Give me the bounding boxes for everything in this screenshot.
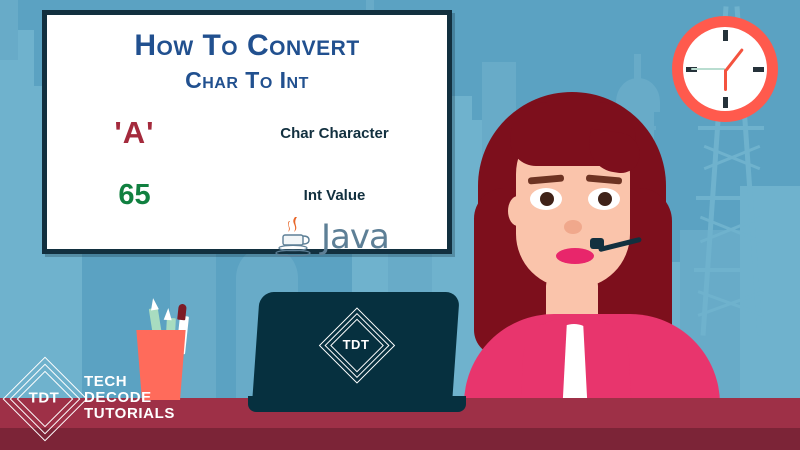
pupil-left <box>540 192 554 206</box>
pencil-1-tip <box>149 297 159 310</box>
paint-brush-tip <box>177 304 187 321</box>
int-value: 65 <box>47 179 222 212</box>
char-label: Char Character <box>222 125 447 142</box>
ear <box>508 196 528 226</box>
watermark-line-3: TUTORIALS <box>84 406 175 422</box>
java-coffee-cup-icon <box>275 215 315 259</box>
laptop-lid: TDT <box>252 292 460 402</box>
whiteboard-panel: How To Convert Char To Int 'A' Char Char… <box>42 10 452 254</box>
pencil-2-tip <box>164 308 173 320</box>
board-title-line-1: How To Convert <box>47 29 447 63</box>
laptop-logo-text: TDT <box>329 337 383 352</box>
board-title-line-2: Char To Int <box>47 67 447 94</box>
desk-front-edge <box>0 428 800 450</box>
watermark-line-1: TECH <box>84 374 175 390</box>
char-value: 'A' <box>47 115 222 151</box>
lips <box>556 248 594 264</box>
laptop-base <box>248 396 466 412</box>
pupil-right <box>598 192 612 206</box>
nose <box>564 220 582 234</box>
int-row: 65 Int Value <box>47 175 447 215</box>
watermark-wordmark: TECH DECODE TUTORIALS <box>84 374 175 423</box>
char-row: 'A' Char Character <box>47 113 447 153</box>
watermark-line-2: DECODE <box>84 390 175 406</box>
video-thumbnail-canvas: How To Convert Char To Int 'A' Char Char… <box>0 0 800 450</box>
brand-watermark: TDT TECH DECODE TUTORIALS <box>14 368 175 428</box>
int-label: Int Value <box>222 187 447 204</box>
watermark-logo-text: TDT <box>14 390 74 407</box>
headset-mic-tip <box>590 238 604 249</box>
java-wordmark: Java <box>321 217 389 257</box>
java-logo: Java <box>275 215 389 259</box>
laptop-tdt-logo: TDT <box>329 318 383 377</box>
tdt-diamond-icon: TDT <box>14 368 74 428</box>
presenter-avatar <box>470 92 770 412</box>
